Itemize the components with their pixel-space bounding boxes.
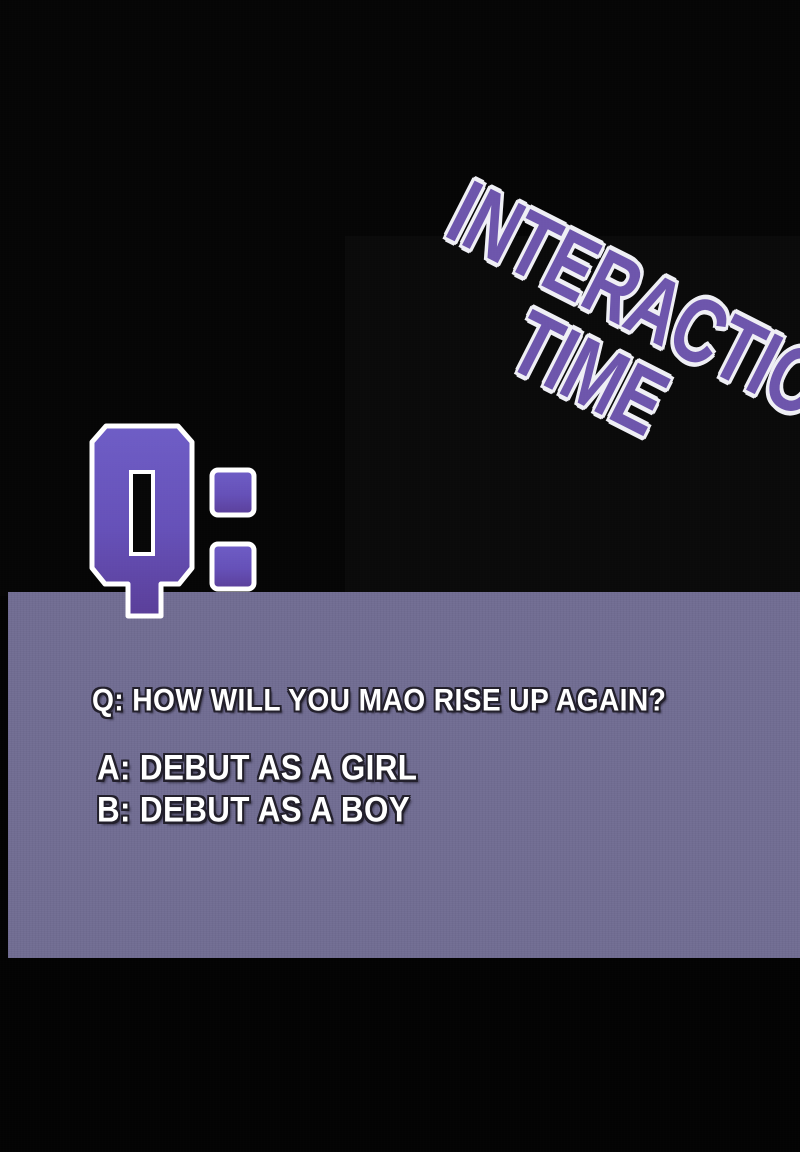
panel-top-black (0, 0, 800, 236)
question-text: Q: HOW WILL YOU MAO RISE UP AGAIN? (92, 683, 666, 719)
comic-page: INTERACTION TIME Q: HOW WILL YOU MAO RI (0, 0, 800, 1152)
big-q-glyph (72, 420, 272, 635)
answer-option-a[interactable]: A: DEBUT AS A GIRL (97, 748, 417, 788)
q-colon-lower-dot (212, 544, 254, 589)
q-letter-counter (131, 472, 153, 554)
q-colon-upper-dot (212, 470, 254, 515)
answer-option-b[interactable]: B: DEBUT AS A BOY (97, 790, 410, 830)
